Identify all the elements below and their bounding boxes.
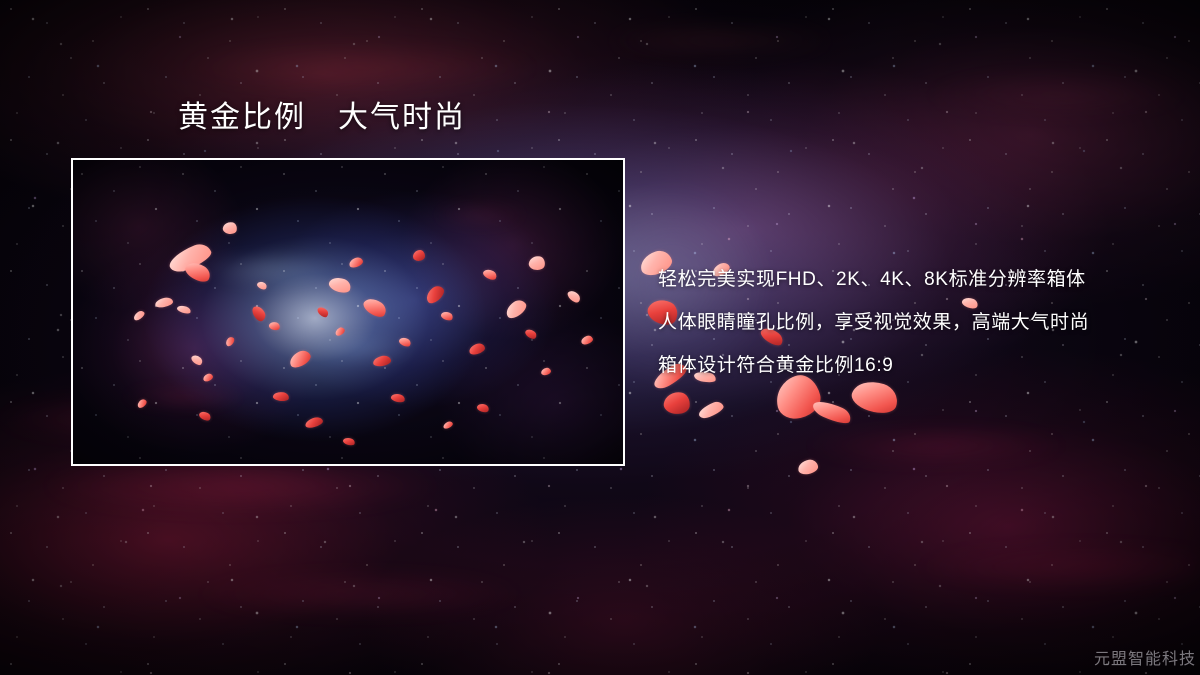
petal-icon bbox=[566, 288, 582, 304]
petal-icon bbox=[154, 297, 173, 309]
petal-icon bbox=[198, 410, 212, 423]
petal-icon bbox=[190, 353, 204, 367]
petal-icon bbox=[423, 283, 447, 306]
page-title: 黄金比例 大气时尚 bbox=[178, 103, 466, 133]
petal-icon bbox=[272, 391, 289, 402]
petal-icon bbox=[440, 310, 454, 322]
petal-icon bbox=[797, 458, 819, 475]
petal-icon bbox=[468, 342, 486, 356]
petal-icon bbox=[528, 255, 546, 272]
body-copy: 轻松完美实现FHD、2K、4K、8K标准分辨率箱体 人体眼睛瞳孔比例，享受视觉效… bbox=[658, 258, 1158, 387]
petal-icon bbox=[136, 398, 148, 410]
petal-icon bbox=[268, 320, 281, 331]
body-line-1: 轻松完美实现FHD、2K、4K、8K标准分辨率箱体 bbox=[658, 258, 1158, 301]
petal-icon bbox=[697, 400, 726, 421]
petal-icon bbox=[250, 304, 267, 323]
petal-icon bbox=[256, 280, 268, 291]
petal-icon bbox=[224, 335, 236, 347]
petal-icon bbox=[413, 250, 425, 261]
petal-icon bbox=[442, 420, 454, 430]
watermark: 元盟智能科技 bbox=[1094, 645, 1196, 669]
petal-icon bbox=[287, 348, 313, 370]
slide-canvas: 黄金比例 大气时尚 轻松完美实现FHD、2K、4K、8K标准分辨率箱体 人体眼睛… bbox=[0, 0, 1200, 675]
petal-icon bbox=[482, 267, 499, 282]
petal-icon bbox=[361, 295, 389, 321]
body-line-2: 人体眼睛瞳孔比例，享受视觉效果，高端大气时尚 bbox=[658, 301, 1158, 344]
petal-icon bbox=[810, 397, 853, 428]
petal-icon bbox=[222, 221, 238, 236]
body-line-3: 箱体设计符合黄金比例16:9 bbox=[658, 344, 1158, 387]
petal-icon bbox=[348, 256, 364, 269]
image-panel bbox=[71, 158, 625, 466]
petal-icon bbox=[202, 373, 214, 383]
petal-icon bbox=[476, 402, 490, 414]
petal-icon bbox=[316, 305, 330, 319]
petal-icon bbox=[390, 392, 406, 403]
petal-icon bbox=[327, 275, 352, 296]
petal-icon bbox=[524, 327, 538, 341]
petal-field-panel bbox=[73, 160, 623, 464]
petal-icon bbox=[540, 367, 551, 376]
petal-icon bbox=[372, 355, 391, 367]
petal-icon bbox=[663, 390, 692, 415]
petal-icon bbox=[342, 436, 355, 446]
petal-icon bbox=[503, 297, 529, 321]
petal-icon bbox=[398, 336, 412, 348]
petal-icon bbox=[304, 416, 324, 429]
petal-icon bbox=[132, 309, 146, 322]
petal-icon bbox=[176, 304, 191, 315]
petal-icon bbox=[580, 334, 594, 345]
petal-icon bbox=[334, 326, 346, 337]
